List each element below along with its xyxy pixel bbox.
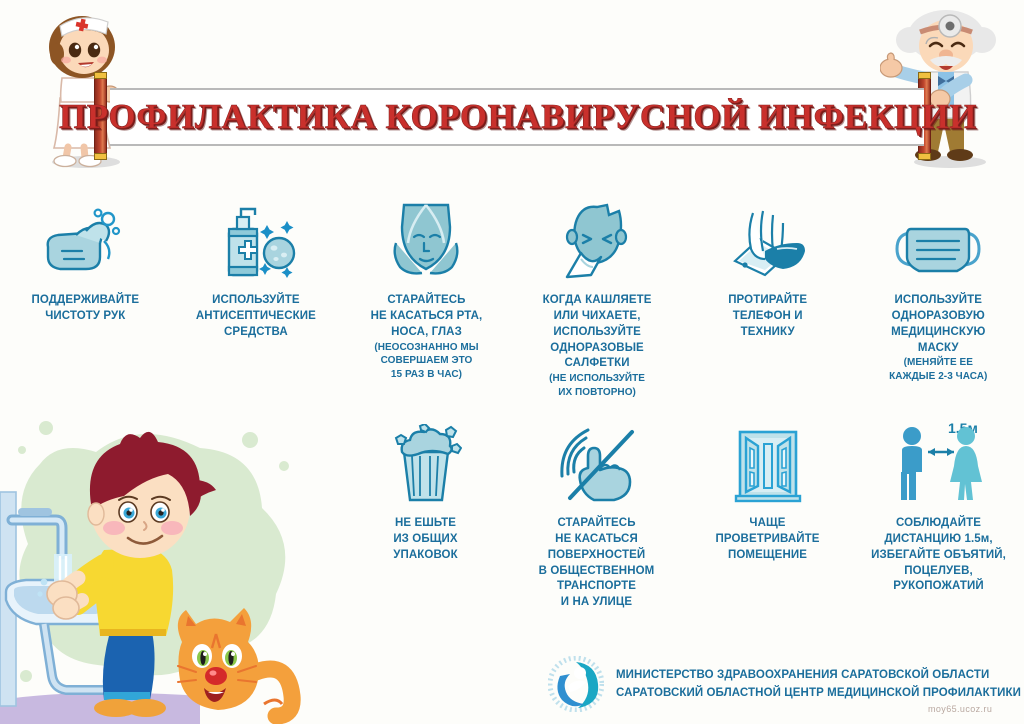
ministry-health-logo (548, 656, 604, 712)
cartoon-doctor-illustration (880, 2, 1012, 172)
boy-washing-hands-illustration (0, 404, 318, 724)
tip-card-wipe-phone: ПРОТИРАЙТЕ ТЕЛЕФОН И ТЕХНИКУ (682, 195, 853, 400)
tip-card-sanitizer: ИСПОЛЬЗУЙТЕ АНТИСЕПТИЧЕСКИЕ СРЕДСТВА (171, 195, 342, 400)
footer-organization: МИНИСТЕРСТВО ЗДРАВООХРАНЕНИЯ САРАТОВСКОЙ… (616, 666, 1021, 703)
tip-caption: СТАРАЙТЕСЬ НЕ КАСАТЬСЯ ПОВЕРХНОСТЕЙ В ОБ… (539, 516, 655, 611)
tip-card-sneeze-tissue: КОГДА КАШЛЯЕТЕ ИЛИ ЧИХАЕТЕ, ИСПОЛЬЗУЙТЕ … (512, 195, 683, 400)
popcorn-bucket-icon (390, 418, 462, 504)
sneeze-tissue-icon (557, 195, 637, 281)
tip-card-ventilate: ЧАЩЕ ПРОВЕТРИВАЙТЕ ПОМЕЩЕНИЕ (682, 418, 853, 611)
medical-mask-icon (893, 195, 983, 281)
tips-row-2: НЕ ЕШЬТЕ ИЗ ОБЩИХ УПАКОВОК СТАРАЙТЕСЬ НЕ (340, 418, 1024, 611)
tip-caption: ИСПОЛЬЗУЙТЕ АНТИСЕПТИЧЕСКИЕ СРЕДСТВА (196, 293, 316, 341)
tip-caption: ПОДДЕРЖИВАЙТЕ ЧИСТОТУ РУК (32, 293, 140, 325)
tip-caption: ЧАЩЕ ПРОВЕТРИВАЙТЕ ПОМЕЩЕНИЕ (716, 516, 820, 564)
tip-card-medical-mask: ИСПОЛЬЗУЙТЕ ОДНОРАЗОВУЮ МЕДИЦИНСКУЮ МАСК… (853, 195, 1024, 400)
page-title: ПРОФИЛАКТИКА КОРОНАВИРУСНОЙ ИНФЕКЦИИ (118, 90, 918, 144)
open-window-icon (732, 418, 804, 504)
wipe-phone-icon (725, 195, 811, 281)
watermark: moy65.ucoz.ru (928, 704, 992, 714)
washing-hands-icon (42, 195, 128, 281)
tip-caption: НЕ ЕШЬТЕ ИЗ ОБЩИХ УПАКОВОК (393, 516, 457, 564)
tip-caption: ПРОТИРАЙТЕ ТЕЛЕФОН И ТЕХНИКУ (728, 293, 807, 341)
social-distance-icon: 1.5м (890, 418, 988, 504)
no-touch-surface-icon (554, 418, 640, 504)
tip-caption: СОБЛЮДАЙТЕ ДИСТАНЦИЮ 1.5м, ИЗБЕГАЙТЕ ОБЪ… (871, 516, 1006, 595)
footer-line-1: МИНИСТЕРСТВО ЗДРАВООХРАНЕНИЯ САРАТОВСКОЙ… (616, 666, 1021, 684)
tip-card-no-touch-surfaces: СТАРАЙТЕСЬ НЕ КАСАТЬСЯ ПОВЕРХНОСТЕЙ В ОБ… (511, 418, 682, 611)
tip-card-no-shared-food: НЕ ЕШЬТЕ ИЗ ОБЩИХ УПАКОВОК (340, 418, 511, 611)
face-dont-touch-icon (388, 195, 464, 281)
tips-row-1: ПОДДЕРЖИВАЙТЕ ЧИСТОТУ РУК (0, 195, 1024, 400)
tip-card-wash-hands: ПОДДЕРЖИВАЙТЕ ЧИСТОТУ РУК (0, 195, 171, 400)
poster-header: ПРОФИЛАКТИКА КОРОНАВИРУСНОЙ ИНФЕКЦИИ (0, 0, 1024, 175)
tip-card-dont-touch-face: СТАРАЙТЕСЬ НЕ КАСАТЬСЯ РТА, НОСА, ГЛАЗ (… (341, 195, 512, 400)
sanitizer-bottle-icon (211, 195, 301, 281)
tip-card-social-distance: 1.5м СОБЛЮДАЙТЕ ДИСТАНЦИЮ 1.5м, (853, 418, 1024, 611)
tip-caption: КОГДА КАШЛЯЕТЕ ИЛИ ЧИХАЕТЕ, ИСПОЛЬЗУЙТЕ … (518, 293, 677, 400)
tip-caption: СТАРАЙТЕСЬ НЕ КАСАТЬСЯ РТА, НОСА, ГЛАЗ (… (371, 293, 483, 382)
poster-root: ПРОФИЛАКТИКА КОРОНАВИРУСНОЙ ИНФЕКЦИИ ПОД… (0, 0, 1024, 724)
tip-caption: ИСПОЛЬЗУЙТЕ ОДНОРАЗОВУЮ МЕДИЦИНСКУЮ МАСК… (889, 293, 987, 384)
footer-line-2: САРАТОВСКИЙ ОБЛАСТНОЙ ЦЕНТР МЕДИЦИНСКОЙ … (616, 684, 1021, 702)
